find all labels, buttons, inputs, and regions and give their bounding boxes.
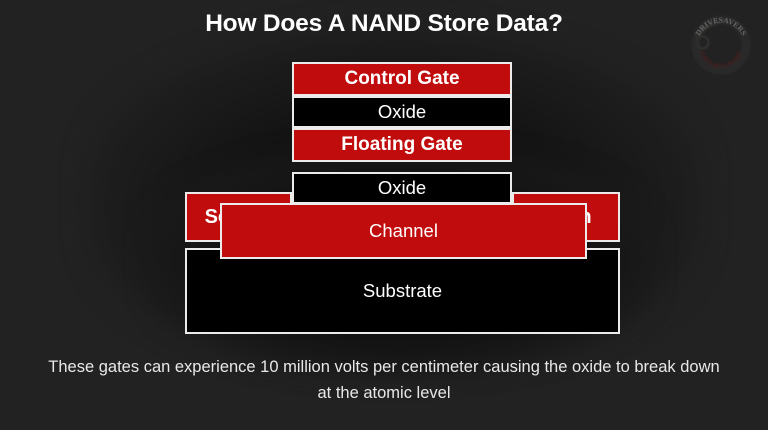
oxide-bottom-label: Oxide bbox=[378, 177, 426, 199]
drivesavers-logo: DRIVESAVERS DATA RECOVERY bbox=[688, 12, 754, 78]
channel-label: Channel bbox=[369, 220, 438, 242]
diagram-block-oxide-bottom[interactable]: Oxide bbox=[292, 172, 512, 204]
oxide-top-label: Oxide bbox=[378, 101, 426, 123]
caption-text: These gates can experience 10 million vo… bbox=[44, 354, 724, 406]
diagram-block-oxide-top[interactable]: Oxide bbox=[292, 96, 512, 128]
diagram-block-substrate[interactable]: Substrate bbox=[185, 248, 620, 334]
diagram-block-control-gate[interactable]: Control Gate bbox=[292, 62, 512, 96]
diagram-block-floating-gate[interactable]: Floating Gate bbox=[292, 128, 512, 162]
diagram-block-channel[interactable]: Channel bbox=[220, 203, 587, 259]
substrate-label: Substrate bbox=[363, 280, 442, 302]
logo-top-text: DRIVESAVERS bbox=[693, 16, 748, 38]
floating-gate-label: Floating Gate bbox=[341, 134, 462, 156]
control-gate-label: Control Gate bbox=[344, 68, 459, 90]
page-title: How Does A NAND Store Data? bbox=[0, 10, 768, 38]
svg-text:DRIVESAVERS: DRIVESAVERS bbox=[693, 16, 748, 38]
